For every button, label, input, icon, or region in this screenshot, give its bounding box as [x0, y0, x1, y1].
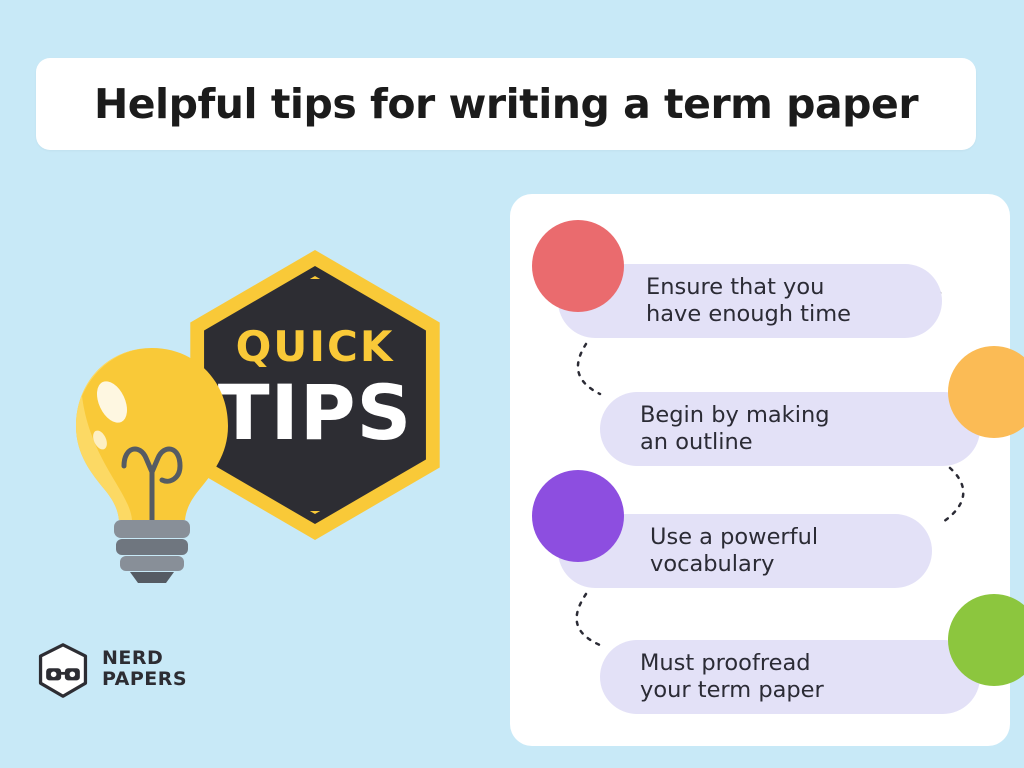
brand-logo[interactable]: NERD PAPERS	[34, 640, 244, 706]
brand-logo-line2: PAPERS	[102, 669, 187, 690]
tip-bullet-circle	[532, 220, 624, 312]
title-card: Helpful tips for writing a term paper	[36, 58, 976, 150]
tip-row[interactable]: Ensure that you have enough time	[532, 264, 942, 338]
quick-tips-illustration: QUICK TIPS	[60, 230, 480, 610]
tip-label: Must proofread your term paper	[640, 650, 824, 704]
tip-pill: Must proofread your term paper	[600, 640, 980, 714]
tip-label: Begin by making an outline	[640, 402, 830, 456]
brand-logo-line1: NERD	[102, 648, 187, 669]
tip-label: Ensure that you have enough time	[646, 274, 851, 328]
tip-row[interactable]: Must proofread your term paper	[600, 640, 980, 714]
brand-logo-text: NERD PAPERS	[102, 648, 187, 690]
tip-row[interactable]: Use a powerful vocabulary	[532, 514, 932, 588]
lightbulb-icon	[60, 340, 245, 585]
page-title: Helpful tips for writing a term paper	[94, 80, 918, 128]
tip-row[interactable]: Begin by making an outline	[600, 392, 980, 466]
tip-pill: Begin by making an outline	[600, 392, 980, 466]
tips-card: Ensure that you have enough time Begin b…	[510, 194, 1010, 746]
tip-label: Use a powerful vocabulary	[650, 524, 818, 578]
tip-bullet-circle	[532, 470, 624, 562]
